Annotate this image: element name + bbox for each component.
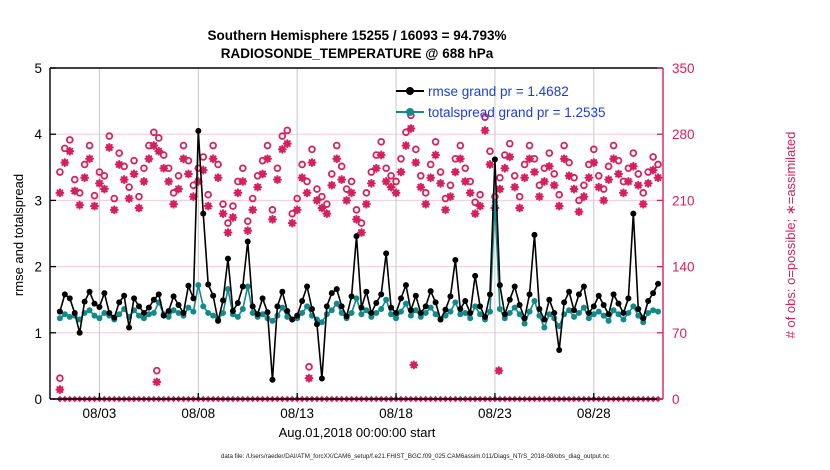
y-tick-label-left: 0 xyxy=(34,392,42,407)
series-point-totalspread xyxy=(269,318,275,324)
series-point-rmse xyxy=(111,315,117,321)
series-point-rmse xyxy=(91,301,97,307)
series-point-rmse xyxy=(467,310,473,316)
obs-assimilated-marker xyxy=(615,171,622,178)
obs-assimilated-marker xyxy=(101,186,108,193)
obs-assimilated-marker xyxy=(328,182,335,189)
series-point-totalspread xyxy=(87,307,93,313)
obs-assimilated-marker xyxy=(546,163,553,170)
series-point-rmse xyxy=(452,257,458,263)
obs-assimilated-marker xyxy=(269,216,276,223)
series-point-rmse xyxy=(319,375,325,381)
series-point-rmse xyxy=(131,295,137,301)
series-point-totalspread xyxy=(571,314,577,320)
obs-assimilated-marker xyxy=(170,201,177,208)
series-point-rmse xyxy=(497,282,503,288)
series-point-rmse xyxy=(447,293,453,299)
series-point-rmse xyxy=(101,290,107,296)
series-point-totalspread xyxy=(358,311,364,317)
obs-assimilated-marker xyxy=(368,180,375,187)
series-point-totalspread xyxy=(57,315,63,321)
series-point-rmse xyxy=(235,300,241,306)
obs-assimilated-marker xyxy=(640,201,647,208)
series-point-totalspread xyxy=(611,307,617,313)
y-axis-label-right: # of obs: o=possible; ∗=assimilated xyxy=(783,132,798,339)
series-point-rmse xyxy=(87,289,93,295)
y-tick-label-left: 1 xyxy=(34,326,42,341)
series-point-rmse xyxy=(645,298,651,304)
y-tick-label-right: 70 xyxy=(672,326,687,341)
series-point-rmse xyxy=(255,311,261,317)
obs-assimilated-marker xyxy=(556,203,563,210)
obs-assimilated-marker xyxy=(571,186,578,193)
chart-title-line2: RADIOSONDE_TEMPERATURE @ 688 hPa xyxy=(221,46,494,61)
obs-assimilated-marker xyxy=(254,184,261,191)
obs-assimilated-marker xyxy=(403,142,410,149)
series-point-rmse xyxy=(363,289,369,295)
series-point-rmse xyxy=(640,315,646,321)
obs-assimilated-marker xyxy=(141,178,148,185)
series-point-totalspread xyxy=(655,309,661,315)
series-point-rmse xyxy=(438,317,444,323)
series-point-rmse xyxy=(205,281,211,287)
series-point-totalspread xyxy=(383,297,389,303)
obs-assimilated-marker xyxy=(56,386,63,393)
series-point-rmse xyxy=(650,290,656,296)
series-point-rmse xyxy=(586,310,592,316)
series-point-rmse xyxy=(591,303,597,309)
obs-assimilated-marker xyxy=(410,362,417,369)
series-point-rmse xyxy=(625,295,631,301)
y-tick-label-left: 3 xyxy=(34,193,42,208)
series-point-rmse xyxy=(299,298,305,304)
obs-assimilated-marker xyxy=(61,159,68,166)
series-point-rmse xyxy=(284,308,290,314)
series-point-rmse xyxy=(141,310,147,316)
x-tick-label: 08/08 xyxy=(181,406,215,421)
y-tick-label-right: 350 xyxy=(672,61,695,76)
obs-assimilated-marker xyxy=(259,171,266,178)
series-point-rmse xyxy=(349,293,355,299)
series-point-rmse xyxy=(655,281,661,287)
x-tick-label: 08/03 xyxy=(83,406,117,421)
series-point-rmse xyxy=(606,311,612,317)
obs-assimilated-marker xyxy=(590,159,597,166)
obs-assimilated-marker xyxy=(447,193,454,200)
obs-assimilated-marker xyxy=(496,186,503,193)
obs-assimilated-marker xyxy=(244,227,251,234)
series-point-rmse xyxy=(166,308,172,314)
series-point-rmse xyxy=(245,238,251,244)
obs-assimilated-marker xyxy=(576,208,583,215)
obs-assimilated-marker xyxy=(506,153,513,160)
legend-label-1: totalspread grand pr = 1.2535 xyxy=(428,105,606,120)
obs-assimilated-marker xyxy=(531,169,538,176)
series-point-rmse xyxy=(260,295,266,301)
obs-assimilated-marker xyxy=(482,127,489,134)
series-point-rmse xyxy=(423,303,429,309)
legend-marker-1 xyxy=(406,108,414,116)
series-point-rmse xyxy=(576,291,582,297)
series-point-rmse xyxy=(62,291,68,297)
obs-assimilated-marker xyxy=(106,144,113,151)
obs-assimilated-marker xyxy=(348,189,355,196)
series-point-rmse xyxy=(373,300,379,306)
obs-assimilated-marker xyxy=(472,210,479,217)
series-point-totalspread xyxy=(185,305,191,311)
series-point-totalspread xyxy=(190,309,196,315)
series-point-rmse xyxy=(294,313,300,319)
series-point-rmse xyxy=(289,317,295,323)
series-point-rmse xyxy=(383,250,389,256)
series-point-rmse xyxy=(611,291,617,297)
series-point-rmse xyxy=(77,330,83,336)
obs-assimilated-marker xyxy=(378,152,385,159)
series-point-rmse xyxy=(502,311,508,317)
series-point-totalspread xyxy=(141,315,147,321)
series-point-rmse xyxy=(279,289,285,295)
obs-assimilated-marker xyxy=(536,193,543,200)
obs-assimilated-marker xyxy=(289,220,296,227)
y-tick-label-right: 0 xyxy=(672,392,680,407)
series-point-rmse xyxy=(408,307,414,313)
series-point-rmse xyxy=(82,299,88,305)
obs-assimilated-marker xyxy=(126,195,133,202)
obs-assimilated-marker xyxy=(274,176,281,183)
y-tick-label-right: 280 xyxy=(672,127,695,142)
obs-assimilated-marker xyxy=(432,152,439,159)
series-point-totalspread xyxy=(235,314,241,320)
series-point-rmse xyxy=(433,299,439,305)
x-tick-label: 08/18 xyxy=(379,406,413,421)
series-point-rmse xyxy=(551,310,557,316)
series-point-totalspread xyxy=(467,315,473,321)
series-point-rmse xyxy=(418,310,424,316)
y-axis-label-left: rmse and totalspread xyxy=(11,174,26,296)
figure-root: Southern Hemisphere 15255 / 16093 = 94.7… xyxy=(0,0,830,470)
series-point-rmse xyxy=(329,290,335,296)
series-point-totalspread xyxy=(393,315,399,321)
series-point-totalspread xyxy=(497,306,503,312)
obs-assimilated-marker xyxy=(605,176,612,183)
series-point-rmse xyxy=(309,306,315,312)
obs-assimilated-marker xyxy=(417,184,424,191)
chart-title-line1: Southern Hemisphere 15255 / 16093 = 94.7… xyxy=(207,28,506,43)
obs-assimilated-marker xyxy=(495,367,502,374)
series-point-rmse xyxy=(620,310,626,316)
series-point-rmse xyxy=(581,283,587,289)
obs-assimilated-marker xyxy=(343,197,350,204)
obs-assimilated-marker xyxy=(487,161,494,168)
series-point-totalspread xyxy=(408,313,414,319)
series-point-totalspread xyxy=(487,309,493,315)
series-point-rmse xyxy=(403,282,409,288)
series-point-rmse xyxy=(413,293,419,299)
obs-assimilated-marker xyxy=(477,203,484,210)
obs-assimilated-marker xyxy=(541,178,548,185)
series-point-rmse xyxy=(398,295,404,301)
obs-assimilated-marker xyxy=(650,167,657,174)
obs-assimilated-marker xyxy=(220,210,227,217)
series-point-rmse xyxy=(546,297,552,303)
series-point-rmse xyxy=(630,211,636,217)
obs-assimilated-marker xyxy=(620,189,627,196)
series-point-rmse xyxy=(116,299,122,305)
series-point-totalspread xyxy=(620,317,626,323)
series-point-rmse xyxy=(541,317,547,323)
obs-assimilated-marker xyxy=(249,206,256,213)
series-point-rmse xyxy=(368,310,374,316)
series-point-rmse xyxy=(334,286,340,292)
obs-assimilated-marker xyxy=(412,159,419,166)
series-point-totalspread xyxy=(349,310,355,316)
series-point-totalspread xyxy=(586,315,592,321)
series-point-rmse xyxy=(215,318,221,324)
obs-assimilated-marker xyxy=(635,182,642,189)
series-point-totalspread xyxy=(329,307,335,313)
series-point-rmse xyxy=(146,305,152,311)
series-point-rmse xyxy=(304,283,310,289)
series-point-rmse xyxy=(220,297,226,303)
series-point-rmse xyxy=(106,310,112,316)
obs-assimilated-marker xyxy=(56,189,63,196)
series-point-rmse xyxy=(536,306,542,312)
x-tick-label: 08/28 xyxy=(577,406,611,421)
series-point-rmse xyxy=(442,307,448,313)
legend-marker-0 xyxy=(406,87,414,95)
series-point-rmse xyxy=(522,315,528,321)
obs-assimilated-marker xyxy=(323,210,330,217)
series-point-rmse xyxy=(210,293,216,299)
obs-assimilated-marker xyxy=(165,178,172,185)
obs-assimilated-marker xyxy=(145,155,152,162)
series-point-rmse xyxy=(616,301,622,307)
series-point-rmse xyxy=(250,303,256,309)
series-point-rmse xyxy=(240,283,246,289)
series-point-rmse xyxy=(161,313,167,319)
series-point-totalspread xyxy=(531,298,537,304)
series-point-rmse xyxy=(339,303,345,309)
series-point-rmse xyxy=(200,211,206,217)
obs-assimilated-marker xyxy=(215,174,222,181)
legend-label-0: rmse grand pr = 1.4682 xyxy=(428,84,569,99)
obs-assimilated-marker xyxy=(175,186,182,193)
series-point-rmse xyxy=(378,291,384,297)
series-point-rmse xyxy=(457,306,463,312)
obs-assimilated-marker xyxy=(309,159,316,166)
obs-assimilated-marker xyxy=(521,174,528,181)
obs-assimilated-marker xyxy=(338,176,345,183)
series-point-rmse xyxy=(126,325,132,331)
obs-assimilated-marker xyxy=(437,180,444,187)
x-tick-label: 08/13 xyxy=(280,406,314,421)
y-tick-label-left: 2 xyxy=(34,260,42,275)
x-axis-label: Aug.01,2018 00:00:00 start xyxy=(279,425,436,440)
obs-assimilated-marker xyxy=(600,197,607,204)
series-point-rmse xyxy=(230,308,236,314)
series-point-rmse xyxy=(195,128,201,134)
obs-assimilated-marker xyxy=(655,174,662,181)
obs-assimilated-marker xyxy=(516,205,523,212)
obs-assimilated-marker xyxy=(264,155,271,162)
series-point-totalspread xyxy=(378,306,384,312)
series-point-totalspread xyxy=(403,301,409,307)
series-point-rmse xyxy=(388,305,394,311)
series-point-rmse xyxy=(472,273,478,279)
series-point-rmse xyxy=(635,306,641,312)
series-point-rmse xyxy=(190,295,196,301)
obs-assimilated-marker xyxy=(442,206,449,213)
obs-assimilated-marker xyxy=(306,375,313,382)
obs-assimilated-marker xyxy=(131,171,138,178)
series-point-rmse xyxy=(121,293,127,299)
obs-assimilated-marker xyxy=(452,169,459,176)
obs-assimilated-marker xyxy=(225,229,232,236)
series-point-rmse xyxy=(185,283,191,289)
series-point-rmse xyxy=(151,297,157,303)
obs-assimilated-marker xyxy=(398,169,405,176)
series-point-rmse xyxy=(57,309,63,315)
series-point-rmse xyxy=(482,314,488,320)
series-point-rmse xyxy=(517,302,523,308)
series-point-totalspread xyxy=(522,321,528,327)
obs-assimilated-marker xyxy=(205,203,212,210)
y-tick-label-right: 140 xyxy=(672,260,695,275)
series-point-rmse xyxy=(67,295,73,301)
series-point-rmse xyxy=(527,291,533,297)
obs-assimilated-marker xyxy=(66,148,73,155)
obs-assimilated-marker xyxy=(284,140,291,147)
series-point-totalspread xyxy=(541,325,547,331)
series-point-totalspread xyxy=(210,313,216,319)
series-point-rmse xyxy=(324,303,330,309)
series-point-rmse xyxy=(477,303,483,309)
series-point-rmse xyxy=(72,310,78,316)
series-point-rmse xyxy=(274,303,280,309)
obs-assimilated-marker xyxy=(551,182,558,189)
series-point-totalspread xyxy=(581,305,587,311)
obs-assimilated-marker xyxy=(393,189,400,196)
obs-assimilated-marker xyxy=(76,202,83,209)
obs-assimilated-marker xyxy=(581,193,588,200)
series-point-rmse xyxy=(176,302,182,308)
obs-assimilated-marker xyxy=(363,201,370,208)
obs-assimilated-marker xyxy=(86,155,93,162)
obs-assimilated-marker xyxy=(91,203,98,210)
series-point-rmse xyxy=(571,307,577,313)
series-point-rmse xyxy=(507,297,513,303)
obs-assimilated-marker xyxy=(294,206,301,213)
obs-assimilated-marker xyxy=(121,176,128,183)
series-point-rmse xyxy=(136,303,142,309)
obs-assimilated-marker xyxy=(81,174,88,181)
obs-assimilated-marker xyxy=(645,180,652,187)
series-point-rmse xyxy=(265,309,271,315)
obs-assimilated-marker xyxy=(511,184,518,191)
obs-assimilated-marker xyxy=(427,174,434,181)
series-point-rmse xyxy=(492,156,498,162)
series-point-rmse xyxy=(269,377,275,383)
obs-assimilated-marker xyxy=(185,171,192,178)
obs-assimilated-marker xyxy=(304,189,311,196)
obs-assimilated-marker xyxy=(230,214,237,221)
series-point-totalspread xyxy=(96,315,102,321)
series-point-totalspread xyxy=(606,318,612,324)
series-point-rmse xyxy=(314,321,320,327)
obs-assimilated-marker xyxy=(239,178,246,185)
obs-assimilated-marker xyxy=(210,155,217,162)
series-point-rmse xyxy=(156,291,162,297)
series-point-rmse xyxy=(358,305,364,311)
series-point-totalspread xyxy=(151,310,157,316)
obs-assimilated-marker xyxy=(501,165,508,172)
series-point-totalspread xyxy=(452,299,458,305)
series-point-rmse xyxy=(393,310,399,316)
x-tick-label: 08/23 xyxy=(478,406,512,421)
obs-assimilated-marker xyxy=(333,155,340,162)
series-point-rmse xyxy=(601,302,607,308)
series-point-totalspread xyxy=(195,282,201,288)
series-point-totalspread xyxy=(596,309,602,315)
y-tick-label-right: 210 xyxy=(672,193,695,208)
y-tick-label-left: 5 xyxy=(34,61,42,76)
obs-assimilated-marker xyxy=(585,174,592,181)
series-point-rmse xyxy=(225,256,231,262)
obs-assimilated-marker xyxy=(625,178,632,185)
obs-assimilated-marker xyxy=(457,155,464,162)
series-point-rmse xyxy=(428,288,434,294)
obs-assimilated-marker xyxy=(373,165,380,172)
obs-assimilated-marker xyxy=(422,201,429,208)
series-point-rmse xyxy=(531,232,537,238)
series-point-rmse xyxy=(566,289,572,295)
y-tick-label-left: 4 xyxy=(34,127,42,142)
obs-assimilated-marker xyxy=(234,189,241,196)
series-point-rmse xyxy=(344,313,350,319)
series-point-totalspread xyxy=(240,306,246,312)
obs-assimilated-marker xyxy=(467,189,474,196)
obs-assimilated-marker xyxy=(630,163,637,170)
series-point-rmse xyxy=(596,293,602,299)
obs-assimilated-marker xyxy=(111,206,118,213)
series-point-totalspread xyxy=(200,303,206,309)
series-point-totalspread xyxy=(116,311,122,317)
series-point-rmse xyxy=(96,304,102,310)
series-point-rmse xyxy=(171,293,177,299)
series-point-rmse xyxy=(556,347,562,353)
obs-assimilated-marker xyxy=(136,205,143,212)
series-point-rmse xyxy=(561,299,567,305)
series-point-rmse xyxy=(180,310,186,316)
obs-assimilated-marker xyxy=(407,125,414,132)
series-point-rmse xyxy=(512,283,518,289)
series-point-rmse xyxy=(487,291,493,297)
series-point-rmse xyxy=(354,233,360,239)
series-point-totalspread xyxy=(527,309,533,315)
obs-assimilated-marker xyxy=(153,379,160,386)
footer-datafile: data file: /Users/raeder/DAI/ATM_forcXX/… xyxy=(221,453,609,460)
series-point-rmse xyxy=(462,298,468,304)
